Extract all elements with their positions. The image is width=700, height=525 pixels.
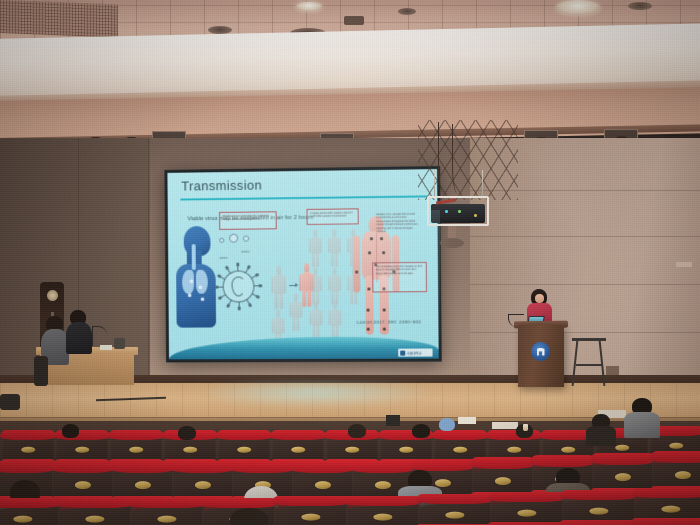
floor-sign <box>492 422 518 429</box>
clock-face-icon <box>47 290 58 301</box>
contact-figure <box>328 301 341 339</box>
paper-cup <box>523 424 528 431</box>
callout-transmission-route: Measles virus is transmitted by respirat… <box>219 211 277 230</box>
projector-status-led <box>458 210 461 213</box>
auditorium-seat[interactable] <box>346 500 420 525</box>
ceiling-projector <box>431 204 485 223</box>
spread-arrow-head <box>295 283 298 287</box>
auditorium-seat[interactable] <box>274 500 348 525</box>
ceiling-downlight <box>628 2 652 10</box>
lecture-hall-photo: Transmission Viable virus may be suspend… <box>0 0 700 525</box>
floor-equipment <box>386 415 400 426</box>
contact-figure <box>309 267 322 305</box>
auditorium-seat[interactable] <box>490 496 564 525</box>
ceiling-downlight <box>296 2 322 11</box>
audience-head <box>230 508 268 525</box>
projector-cable <box>452 124 466 194</box>
floor-sign <box>458 417 476 424</box>
audience-head <box>62 424 79 438</box>
projector-floor-spill <box>200 382 430 408</box>
logo-text: 서울대학교 <box>407 350 422 355</box>
callout-secondary-spread: A single person with measles infects 9 t… <box>307 208 359 225</box>
auditorium-seat[interactable] <box>130 502 204 525</box>
wall-bracket <box>676 262 692 267</box>
ceiling-mesh-panel <box>0 0 118 38</box>
slide-footer-logo: 서울대학교 <box>398 349 432 357</box>
projector-status-led <box>474 214 477 217</box>
wall-seam <box>470 236 700 237</box>
projector-hanger <box>482 170 483 198</box>
ceiling-vent <box>344 16 364 25</box>
audience-head <box>348 424 366 438</box>
contact-figure <box>309 301 322 339</box>
slide-content: Transmission Viable virus may be suspend… <box>167 169 438 359</box>
droplet-particle <box>243 236 249 242</box>
panelist-chair <box>34 356 48 386</box>
slide-title-rule <box>180 195 427 200</box>
projector-hanger <box>434 170 435 198</box>
table-equipment-box <box>114 338 125 349</box>
contact-figure <box>328 267 341 305</box>
auditorium-seat[interactable] <box>634 492 700 525</box>
auditorium-seat[interactable] <box>418 498 492 525</box>
audience-head <box>412 424 430 438</box>
audience-body <box>586 426 616 446</box>
wall-seam <box>148 138 149 383</box>
auditorium-seat[interactable] <box>58 502 132 525</box>
ceiling-downlight <box>556 0 600 15</box>
auditorium-seat[interactable] <box>562 494 636 525</box>
droplet-particle <box>229 234 238 243</box>
ceiling-vent <box>398 8 416 15</box>
panelist-body <box>66 322 92 354</box>
audience-head <box>178 426 196 440</box>
slide-title: Transmission <box>181 178 262 194</box>
university-crest-icon <box>531 342 550 361</box>
index-case-figure <box>271 265 286 309</box>
auditorium-seat[interactable] <box>0 502 60 525</box>
wall-seam <box>470 332 700 333</box>
projector-status-led <box>445 210 448 213</box>
contact-figure <box>328 229 341 267</box>
callout-systemic-spread: Measles virus spreads first to local lym… <box>373 210 424 249</box>
logo-mark-icon <box>400 350 405 355</box>
callout-incubation-period: The incubation period for measles is 12.… <box>372 262 427 293</box>
stage-speaker-box <box>0 394 20 410</box>
audience-head <box>439 418 455 431</box>
projector-mount-mesh <box>418 120 518 200</box>
contact-figure <box>289 293 302 331</box>
speaker-face <box>535 294 544 303</box>
projection-screen: Transmission Viable virus may be suspend… <box>164 166 441 362</box>
droplet-label: particles <box>241 251 250 253</box>
slide-citation: Lancet 2017; 390: 2490–502 <box>357 319 421 324</box>
ceiling-dome-camera <box>440 238 464 248</box>
respiratory-silhouette-figure <box>174 224 218 329</box>
side-table-stand <box>572 338 606 386</box>
contact-figure <box>309 229 322 267</box>
audience-body <box>624 412 660 438</box>
virus-particle-icon <box>216 263 262 309</box>
droplet-particle <box>219 238 224 243</box>
wall-seam <box>470 284 700 285</box>
droplet-label: particles <box>219 258 227 260</box>
